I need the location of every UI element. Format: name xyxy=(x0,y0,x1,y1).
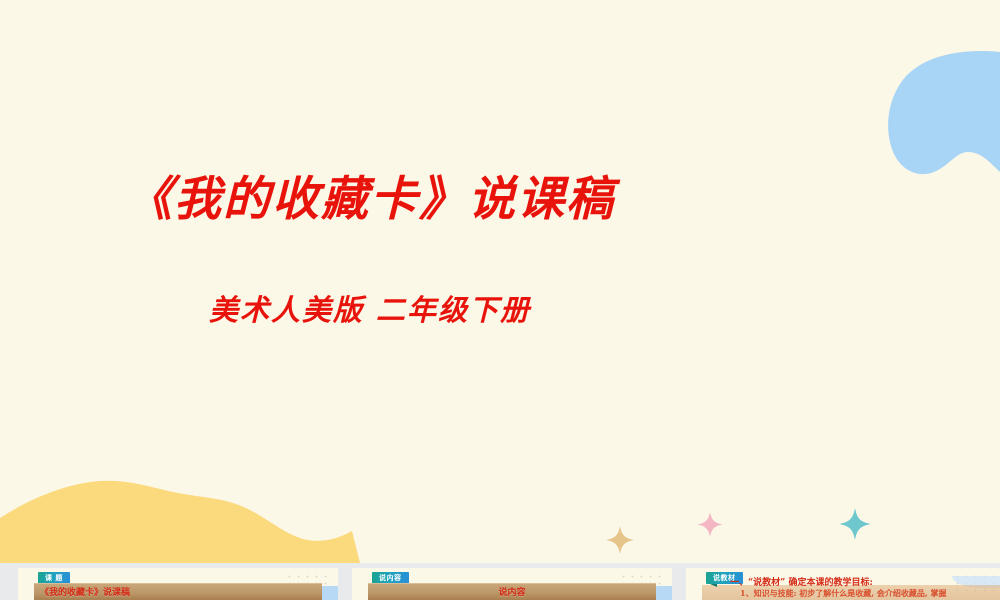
slide-text-block: 《我的收藏卡》说课稿 美术人美版 二年级下册 xyxy=(0,0,1000,563)
thumbnail-2-text: 说内容 xyxy=(368,585,656,598)
current-slide: 《我的收藏卡》说课稿 美术人美版 二年级下册 xyxy=(0,0,1000,563)
presentation-viewer: 《我的收藏卡》说课稿 美术人美版 二年级下册 课 题 《我的收藏卡》说课稿 说内… xyxy=(0,0,1000,600)
thumbnail-3-heading: 一、“说教材” 确定本课的教学目标: xyxy=(730,575,873,588)
thumbnail-3-subtext: 1、知识与技能: 初步了解什么是收藏, 会介绍收藏品, 掌握 xyxy=(740,588,946,599)
thumbnail-slide-3[interactable]: 说教材 一、“说教材” 确定本课的教学目标: 1、知识与技能: 初步了解什么是收… xyxy=(686,568,1000,600)
thumbnail-slide-2[interactable]: 说内容 说内容 xyxy=(352,568,672,600)
thumbnail-slide-1[interactable]: 课 题 《我的收藏卡》说课稿 xyxy=(18,568,338,600)
page-title: 《我的收藏卡》说课稿 xyxy=(60,160,680,229)
wood-board-2: 说内容 xyxy=(368,583,656,600)
thumbnail-1-text: 《我的收藏卡》说课稿 xyxy=(40,585,130,598)
page-subtitle: 美术人美版 二年级下册 xyxy=(60,287,680,329)
wood-board-1: 《我的收藏卡》说课稿 xyxy=(34,583,322,600)
thumbnail-strip[interactable]: 课 题 《我的收藏卡》说课稿 说内容 说内容 说教材 一、“说教材” 确定本课的… xyxy=(0,563,1000,600)
